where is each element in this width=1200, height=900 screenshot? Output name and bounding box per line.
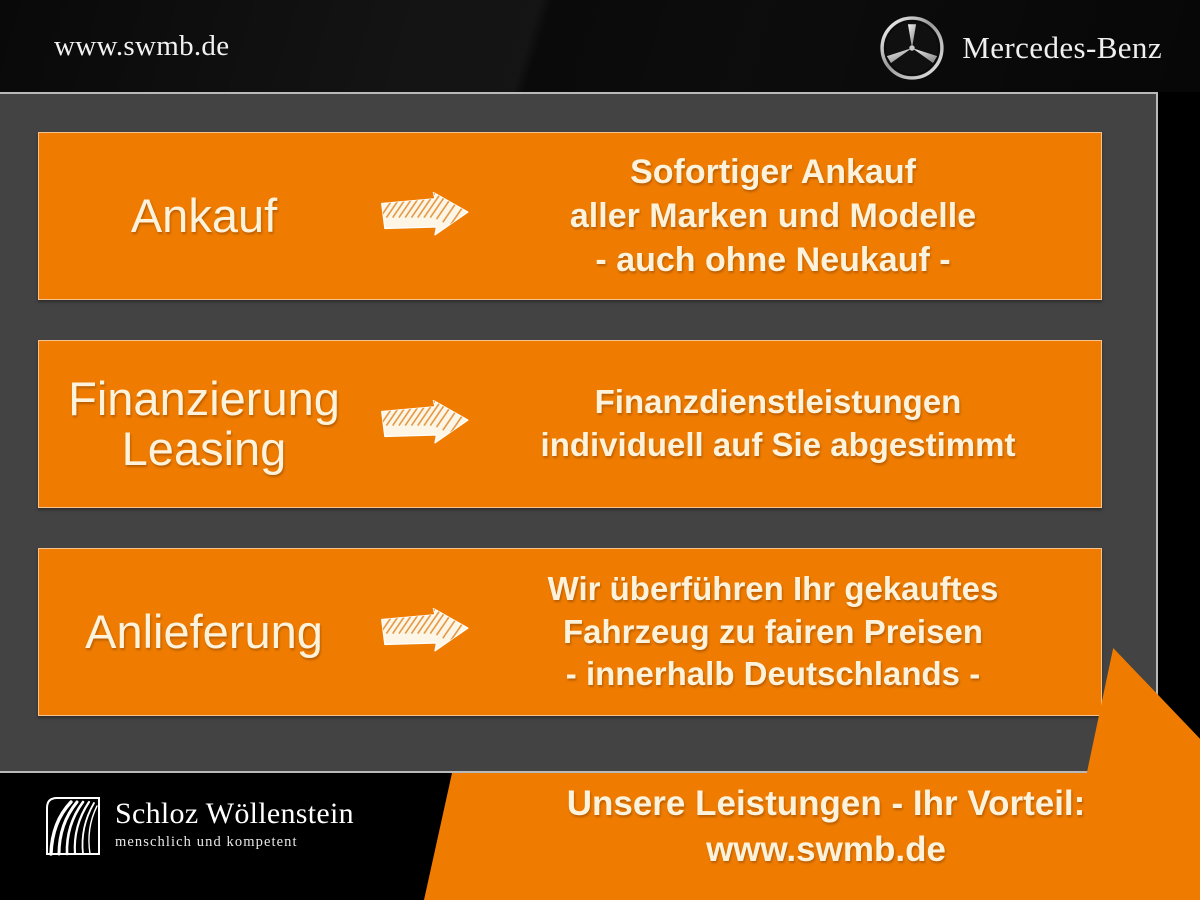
service-description: Finanzdienstleistungen individuell auf S… [479,381,1101,467]
footer-slogan: Unsere Leistungen - Ihr Vorteil: www.swm… [452,781,1200,873]
service-title: Anlieferung [39,607,369,657]
dealer-logo[interactable]: Schloz Wöllenstein menschlich und kompet… [45,796,354,856]
service-description: Wir überführen Ihr gekauftes Fahrzeug zu… [479,568,1101,697]
service-band-ankauf[interactable]: Ankauf [38,132,1102,300]
mercedes-benz-wordmark: Mercedes-Benz [962,30,1162,66]
arrow-right-sketch-icon [369,188,479,244]
service-description: Sofortiger Ankauf aller Marken und Model… [479,150,1101,283]
slide-canvas: www.swmb.de [0,0,1200,900]
dealer-tagline: menschlich und kompetent [115,834,354,851]
service-title: Ankauf [39,191,369,241]
service-title: Finanzierung Leasing [39,374,369,474]
arrow-right-sketch-icon [369,396,479,452]
schloz-woellenstein-road-logo-icon [45,796,101,856]
arrow-right-sketch-icon [369,604,479,660]
service-band-finanzierung-leasing[interactable]: Finanzierung Leasing [38,340,1102,508]
dealer-name: Schloz Wöllenstein [115,797,354,830]
header-site-url[interactable]: www.swmb.de [54,30,229,63]
mercedes-benz-brand: Mercedes-Benz [878,14,1162,82]
services-panel: Ankauf [0,92,1158,773]
dealer-name-block: Schloz Wöllenstein menschlich und kompet… [115,796,354,851]
service-band-anlieferung[interactable]: Anlieferung [38,548,1102,716]
header-bar: www.swmb.de [0,0,1200,92]
mercedes-star-icon [878,14,946,82]
